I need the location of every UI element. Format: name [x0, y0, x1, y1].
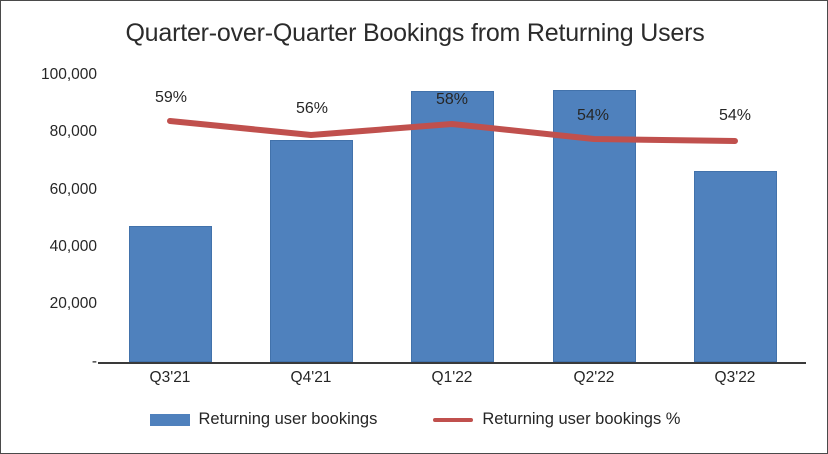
data-label-q2-22: 54% [577, 107, 609, 125]
x-axis-line [98, 362, 806, 364]
y-axis-tick: 80,000 [50, 123, 97, 141]
chart-legend: Returning user bookings Returning user b… [1, 410, 828, 429]
bar-q4-21[interactable] [270, 140, 353, 362]
x-axis-tick-q1-22: Q1'22 [432, 369, 473, 387]
y-axis-tick-zero: - [92, 353, 97, 371]
x-axis-tick-q3-21: Q3'21 [150, 369, 191, 387]
x-axis-tick-q2-22: Q2'22 [574, 369, 615, 387]
y-axis-tick: 100,000 [41, 66, 97, 84]
y-axis-tick: 20,000 [50, 295, 97, 313]
y-axis-tick: 60,000 [50, 181, 97, 199]
legend-item-bookings[interactable]: Returning user bookings [150, 410, 378, 429]
data-label-q4-21: 56% [296, 100, 328, 118]
bar-q3-22[interactable] [694, 171, 777, 362]
bar-q1-22[interactable] [411, 91, 494, 362]
bar-q3-21[interactable] [129, 226, 212, 362]
y-axis: 100,000 80,000 60,000 40,000 20,000 - [19, 1, 97, 454]
data-label-q3-21: 59% [155, 89, 187, 107]
x-axis-tick-q3-22: Q3'22 [715, 369, 756, 387]
legend-label-bookings: Returning user bookings [199, 410, 378, 429]
data-label-q3-22: 54% [719, 107, 751, 125]
line-swatch-icon [433, 418, 473, 422]
x-axis-tick-q4-21: Q4'21 [291, 369, 332, 387]
data-label-q1-22: 58% [436, 91, 468, 109]
chart-container: Quarter-over-Quarter Bookings from Retur… [0, 0, 828, 454]
legend-item-bookings-pct[interactable]: Returning user bookings % [433, 410, 680, 429]
bar-swatch-icon [150, 414, 190, 426]
legend-label-bookings-pct: Returning user bookings % [482, 410, 680, 429]
bar-q2-22[interactable] [553, 90, 636, 362]
y-axis-tick: 40,000 [50, 238, 97, 256]
plot-area: 100,000 80,000 60,000 40,000 20,000 - 59… [1, 1, 828, 454]
